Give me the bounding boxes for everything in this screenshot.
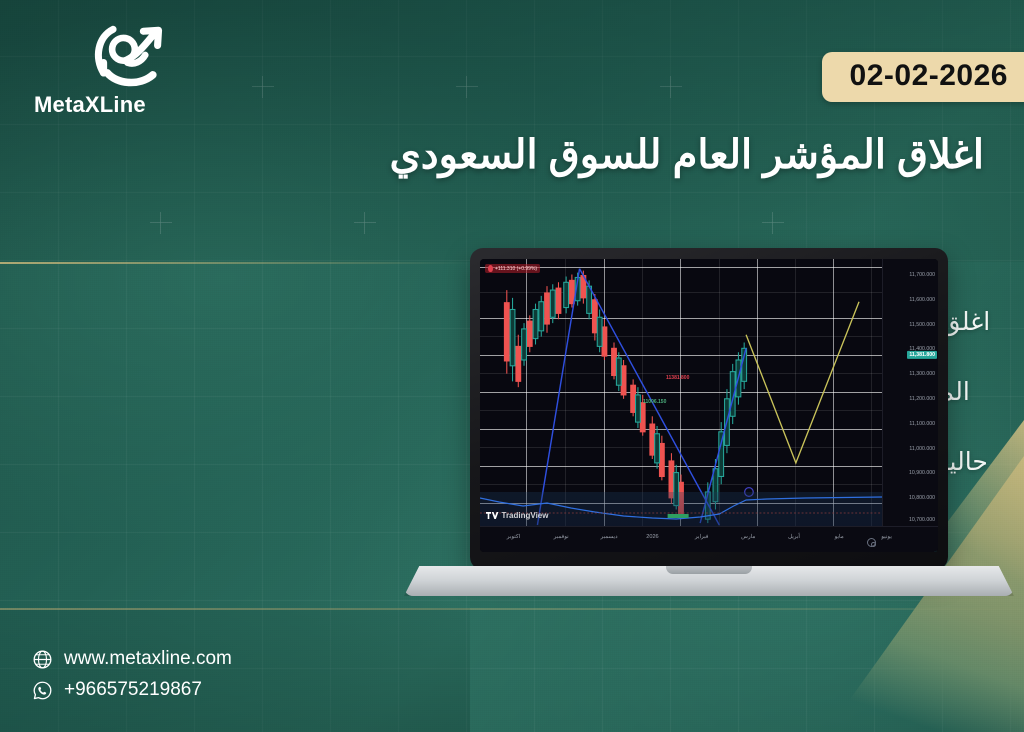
time-tick: 2026 [646,534,658,540]
last-price-badge: 11,381.800 [907,351,937,359]
laptop-screen: 11381.800 11006.150 +111.310 (+0.99%) [480,259,938,552]
tradingview-logo-icon [486,511,499,520]
brand-logo: MetaXLine [30,18,180,118]
chart-time-axis[interactable]: اكتوبر نوفمبر ديسمبر 2026 فبراير مارس أب… [480,526,938,552]
price-tick: 11,700.000 [909,272,935,278]
time-tick: فبراير [695,534,709,540]
projection-line [746,302,859,463]
contact-phone-row[interactable]: +966575219867 [32,679,232,701]
time-tick: مايو [835,534,844,540]
metaxline-arrow-logo-icon [84,18,180,90]
tradingview-logo: TradingView [486,511,548,520]
price-tick: 11,100.000 [909,421,935,427]
contact-website-row[interactable]: www.metaxline.com [32,648,232,670]
tradingview-label: TradingView [502,511,549,520]
time-tick: مارس [741,534,755,540]
price-tick: 11,500.000 [909,322,935,328]
price-tick: 11,300.000 [909,371,935,377]
ticker-dot-icon [488,265,493,272]
price-tick: 11,600.000 [909,297,935,303]
time-tick: ديسمبر [601,534,618,540]
ticker-change-label: +111.310 (+0.99%) [495,266,537,272]
brand-name: MetaXLine [30,92,180,118]
time-tick: أبريل [788,534,800,540]
website-label: www.metaxline.com [64,648,232,670]
laptop-mockup: 11381.800 11006.150 +111.310 (+0.99%) [404,248,1014,648]
globe-icon [32,649,53,670]
price-tick: 11,200.000 [909,396,935,402]
page-title: اغلاق المؤشر العام للسوق السعودي [150,130,984,180]
chart-annotation-support: 11006.150 [643,399,666,405]
price-tick: 11,000.000 [909,446,935,452]
price-tick: 10,900.000 [909,470,935,476]
time-tick: نوفمبر [554,534,569,540]
chart-annotation-resistance: 11381.800 [666,375,689,381]
price-tick: 10,800.000 [909,495,935,501]
price-tick: 10,700.000 [909,517,935,523]
chart-series-svg [480,259,882,526]
chart-settings-icon[interactable] [867,538,876,547]
chart-plot-area[interactable]: 11381.800 11006.150 +111.310 (+0.99%) [480,259,882,526]
ticker-change-badge: +111.310 (+0.99%) [485,264,540,273]
whatsapp-icon [32,680,53,701]
chart-indicator-pane [480,492,882,526]
laptop-lid: 11381.800 11006.150 +111.310 (+0.99%) [470,248,948,570]
phone-label: +966575219867 [64,679,202,701]
contact-footer: www.metaxline.com +966575219867 [32,648,232,710]
tradingview-chart[interactable]: 11381.800 11006.150 +111.310 (+0.99%) [480,259,938,552]
chart-price-axis[interactable]: 11,700.000 11,600.000 11,500.000 11,400.… [882,259,938,526]
time-tick: اكتوبر [507,534,520,540]
time-tick: يونيو [881,534,892,540]
date-badge: 02-02-2026 [822,52,1024,102]
laptop-base-notch [666,566,752,574]
